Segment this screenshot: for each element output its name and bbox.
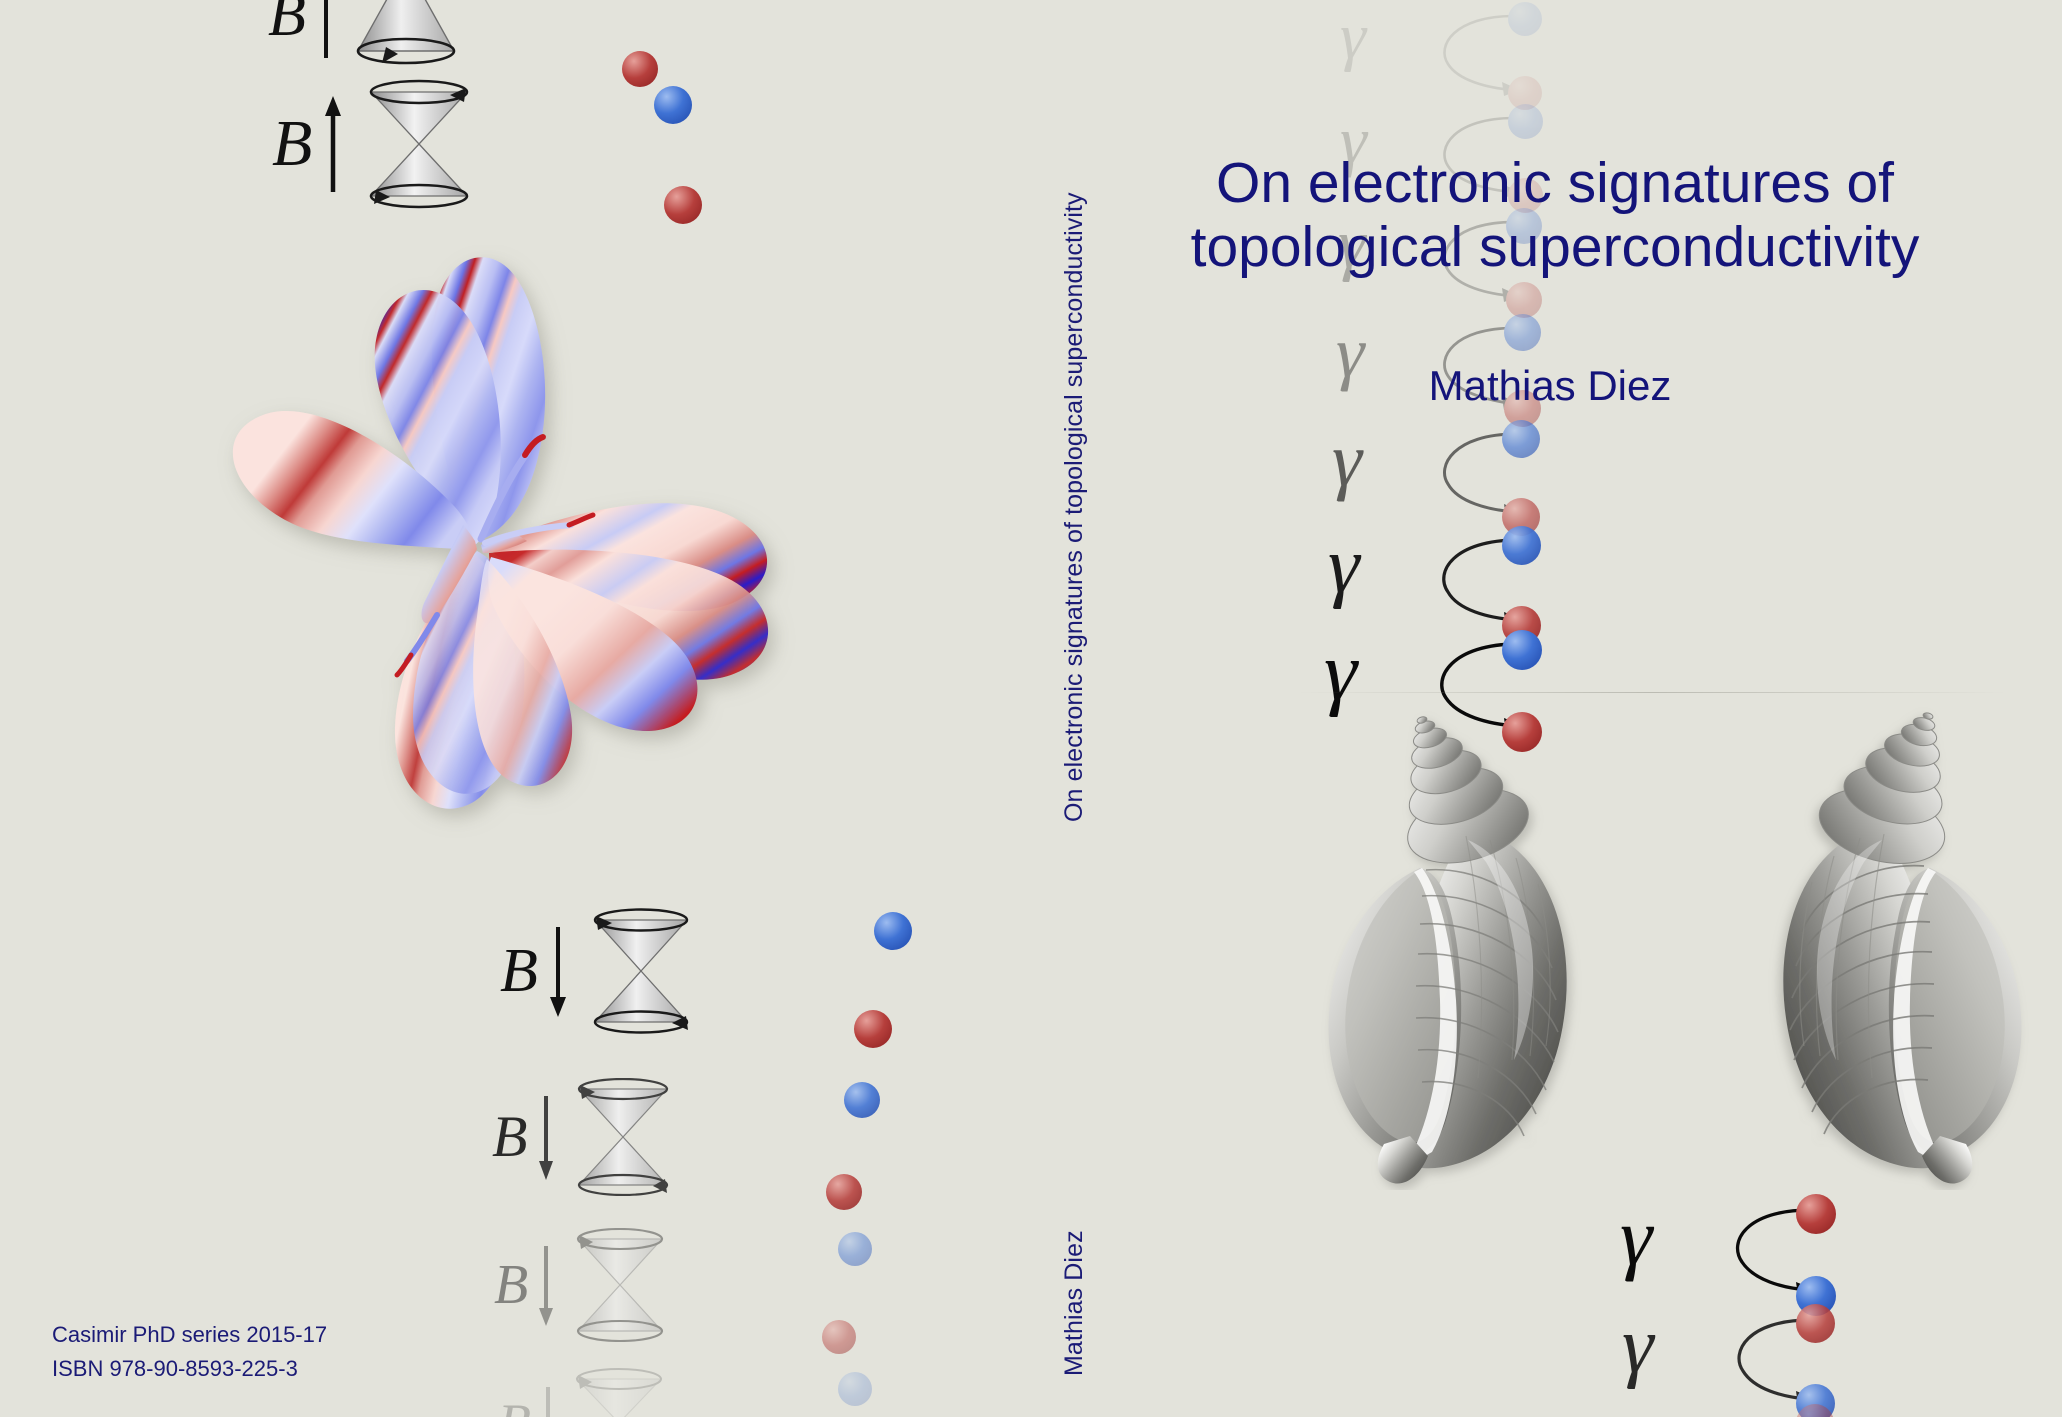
gamma-chain-bottom: γ γ γ bbox=[1090, 0, 1650, 240]
author-name: Mathias Diez bbox=[1090, 362, 2010, 410]
isbn-label: ISBN 978-90-8593-225-3 bbox=[52, 1352, 327, 1386]
blue-sphere bbox=[1504, 314, 1541, 351]
magnetic-field-label: B bbox=[494, 1257, 528, 1313]
dirac-cone-diagram: B bbox=[498, 1368, 673, 1417]
dirac-double-cone-icon bbox=[565, 1368, 673, 1417]
dirac-cone-diagram: B bbox=[272, 78, 484, 210]
field-arrow-down-icon bbox=[527, 1092, 565, 1182]
shell-right bbox=[1680, 700, 2062, 1190]
blue-sphere bbox=[838, 1232, 872, 1266]
field-arrow-down-icon bbox=[528, 1242, 564, 1328]
shell-left bbox=[1280, 700, 1670, 1190]
spine-author: Mathias Diez bbox=[1060, 1230, 1089, 1376]
red-sphere bbox=[1796, 1304, 1835, 1343]
gamma-symbol: γ bbox=[1620, 1196, 1652, 1278]
field-arrow-up-icon bbox=[312, 94, 354, 194]
blue-sphere bbox=[1502, 630, 1542, 670]
magnetic-field-label: B bbox=[268, 0, 306, 46]
imprint-block: Casimir PhD series 2015-17 ISBN 978-90-8… bbox=[52, 1318, 327, 1386]
blue-sphere bbox=[1502, 526, 1541, 565]
field-arrow-down-icon bbox=[531, 1383, 565, 1417]
red-sphere bbox=[1796, 1194, 1836, 1234]
spine-title: On electronic signatures of topological … bbox=[1060, 192, 1089, 822]
book-cover: B B bbox=[0, 0, 2062, 1417]
red-sphere bbox=[854, 1010, 892, 1048]
gamma-symbol: γ bbox=[1328, 526, 1360, 606]
magnetic-field-label: B bbox=[500, 940, 538, 1002]
dirac-cone-diagram: B bbox=[492, 1078, 681, 1196]
red-sphere bbox=[664, 186, 702, 224]
magnetic-field-label: B bbox=[272, 111, 312, 177]
back-cover-panel: B B bbox=[0, 0, 1012, 1417]
front-cover-panel: γ γ γ bbox=[1090, 0, 2062, 1417]
blue-sphere bbox=[844, 1082, 880, 1118]
dirac-double-cone-icon bbox=[564, 1228, 676, 1342]
dirac-double-cone-icon bbox=[565, 1078, 681, 1196]
red-sphere bbox=[822, 1320, 856, 1354]
dirac-cone-diagram: B bbox=[268, 0, 466, 75]
gamma-symbol: γ bbox=[1622, 1306, 1654, 1386]
field-arrow-up-icon bbox=[306, 0, 346, 60]
magnetic-field-label: B bbox=[498, 1396, 531, 1417]
sea-shell-figure bbox=[1280, 700, 2062, 1190]
field-arrow-down-icon bbox=[538, 923, 578, 1019]
gamma-symbol: γ bbox=[1332, 422, 1362, 498]
blue-sphere bbox=[838, 1372, 872, 1406]
gamma-symbol: γ bbox=[1624, 1406, 1655, 1417]
dirac-double-cone-icon bbox=[578, 908, 704, 1034]
blue-sphere bbox=[654, 86, 692, 124]
blue-sphere bbox=[1502, 420, 1540, 458]
dirac-double-cone-icon bbox=[354, 78, 484, 210]
dirac-cone-icon bbox=[346, 0, 466, 75]
magnetic-field-label: B bbox=[492, 1108, 527, 1166]
dirac-cone-diagram: B bbox=[494, 1228, 676, 1342]
red-sphere bbox=[826, 1174, 862, 1210]
casimir-series-label: Casimir PhD series 2015-17 bbox=[52, 1318, 327, 1352]
red-sphere bbox=[622, 51, 658, 87]
divider bbox=[1297, 692, 2007, 693]
hofstadter-butterfly-figure bbox=[175, 245, 825, 895]
blue-sphere bbox=[874, 912, 912, 950]
dirac-cone-diagram: B bbox=[500, 908, 704, 1034]
